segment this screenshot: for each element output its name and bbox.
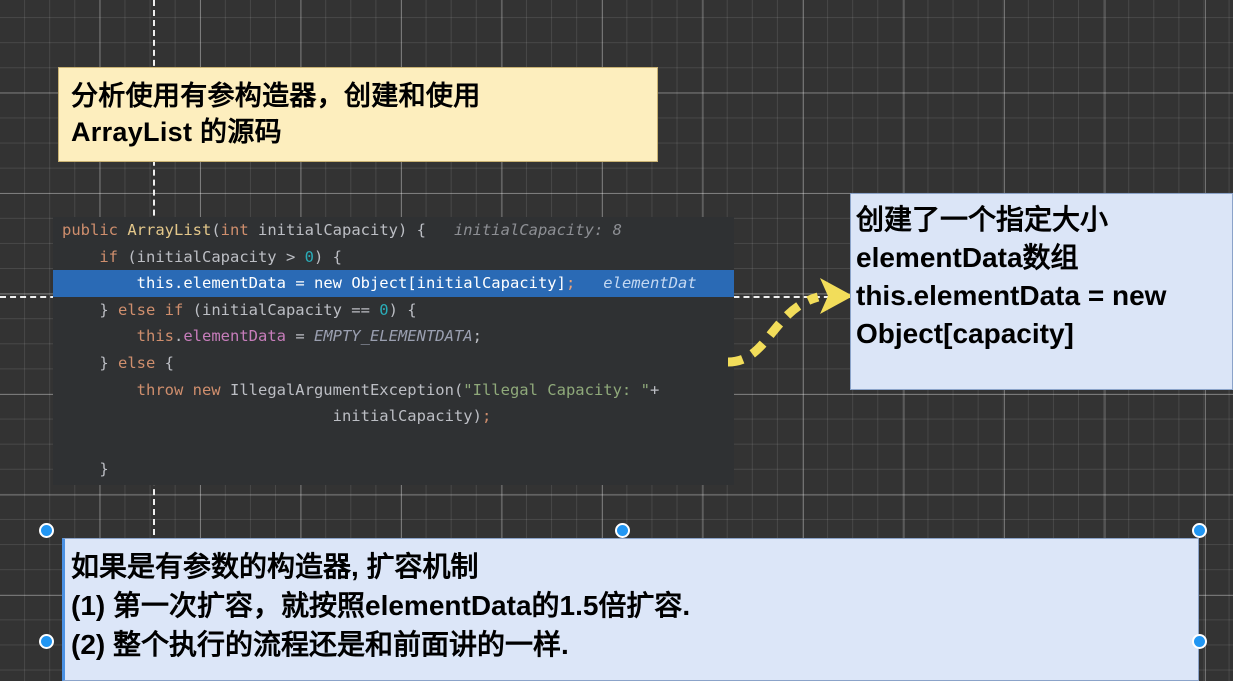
code-token-plain: ) { [389,301,417,319]
code-token-plain [62,274,137,292]
code-token-plain: (initialCapacity > [118,248,305,266]
code-token-keyword: if [99,248,118,266]
code-token-function: ArrayList [127,221,211,239]
code-token-plain [62,248,99,266]
handle-middle-left[interactable] [39,634,54,649]
code-token-keyword: new [314,274,342,292]
code-token-plain: } [62,301,118,319]
handle-top-left[interactable] [39,523,54,538]
code-line: } else if (initialCapacity == 0) { [53,297,734,324]
code-screenshot[interactable]: public ArrayList(int initialCapacity) { … [53,217,734,485]
code-line-content: } [62,460,109,478]
blue-note-line-2: (1) 第一次扩容，就按照elementData的1.5倍扩容. [71,586,1198,625]
blue-callout-line-4: Object[capacity] [856,315,1232,353]
code-line-content: throw new IllegalArgumentException("Ille… [62,381,659,399]
handle-top-right[interactable] [1192,523,1207,538]
code-token-string: "Illegal Capacity: " [463,381,650,399]
code-token-keyword: throw new [137,381,221,399]
code-line: } else { [53,350,734,377]
yellow-note-line-1: 分析使用有参构造器，创建和使用 [71,78,657,114]
blue-note-line-3: (2) 整个执行的流程还是和前面讲的一样. [71,625,1198,664]
code-line-content: if (initialCapacity > 0) { [62,248,342,266]
code-token-plain: initialCapacity) [62,407,482,425]
code-token-keyword: else if [118,301,183,319]
code-token-number: 0 [379,301,388,319]
code-token-plain [62,327,137,345]
code-line: } [53,456,734,483]
blue-callout-right[interactable]: 创建了一个指定大小 elementData数组 this.elementData… [850,193,1233,390]
code-token-plain [62,381,137,399]
blue-note-bottom[interactable]: 如果是有参数的构造器, 扩容机制 (1) 第一次扩容，就按照elementDat… [62,538,1199,681]
yellow-note-line-2: ArrayList 的源码 [71,114,657,150]
code-line-content: initialCapacity); [62,407,491,425]
code-line [53,430,734,457]
blue-note-line-1: 如果是有参数的构造器, 扩容机制 [71,547,1198,586]
code-line: public ArrayList(int initialCapacity) { … [53,217,734,244]
code-token-constant: EMPTY_ELEMENTDATA [314,327,473,345]
code-token-plain: ; [473,327,482,345]
code-token-hint: initialCapacity: 8 [426,221,622,239]
code-token-plain: ) { [398,221,426,239]
code-token-number: 0 [305,248,314,266]
code-token-plain: . [174,327,183,345]
code-token-field: elementData [183,274,286,292]
code-token-plain: } [62,460,109,478]
code-token-keyword: else [118,354,155,372]
code-line: initialCapacity); [53,403,734,430]
code-token-plain: . [174,274,183,292]
handle-top-center[interactable] [615,523,630,538]
blue-callout-line-1: 创建了一个指定大小 [856,201,1232,239]
code-token-semicolon: ; [482,407,491,425]
code-line: if (initialCapacity > 0) { [53,244,734,271]
code-token-plain: = [286,327,314,345]
code-line-content: this.elementData = EMPTY_ELEMENTDATA; [62,327,482,345]
code-token-plain: IllegalArgumentException( [221,381,464,399]
code-token-semicolon: ; [566,274,575,292]
blue-callout-line-2: elementData数组 [856,239,1232,277]
code-token-plain: (initialCapacity == [183,301,379,319]
handle-middle-right[interactable] [1192,634,1207,649]
code-line-highlighted: this.elementData = new Object[initialCap… [53,270,734,297]
whiteboard-canvas[interactable]: 分析使用有参构造器，创建和使用 ArrayList 的源码 public Arr… [0,0,1233,681]
code-token-plain: ) { [314,248,342,266]
code-token-plain: = [286,274,314,292]
code-token-keyword: this [137,274,174,292]
code-token-keyword: public [62,221,127,239]
code-token-keyword: this [137,327,174,345]
code-token-hint: elementDat [575,274,696,292]
code-line-content: } else if (initialCapacity == 0) { [62,301,417,319]
code-line: } [53,483,734,485]
yellow-title-note[interactable]: 分析使用有参构造器，创建和使用 ArrayList 的源码 [58,67,658,162]
code-line: this.elementData = EMPTY_ELEMENTDATA; [53,323,734,350]
code-line: throw new IllegalArgumentException("Ille… [53,377,734,404]
code-token-keyword: int [221,221,249,239]
code-token-plain: { [155,354,174,372]
code-token-plain: } [62,354,118,372]
code-token-plain: + [650,381,659,399]
code-line-content: } else { [62,354,174,372]
curved-dashed-arrow [720,270,870,382]
code-token-field: elementData [183,327,286,345]
code-line-content: public ArrayList(int initialCapacity) { … [62,221,622,239]
code-token-plain: Object[initialCapacity] [342,274,566,292]
blue-callout-line-3: this.elementData = new [856,277,1232,315]
code-token-plain: ( [211,221,220,239]
code-token-param: initialCapacity [249,221,398,239]
code-line-content: this.elementData = new Object[initialCap… [53,270,697,297]
